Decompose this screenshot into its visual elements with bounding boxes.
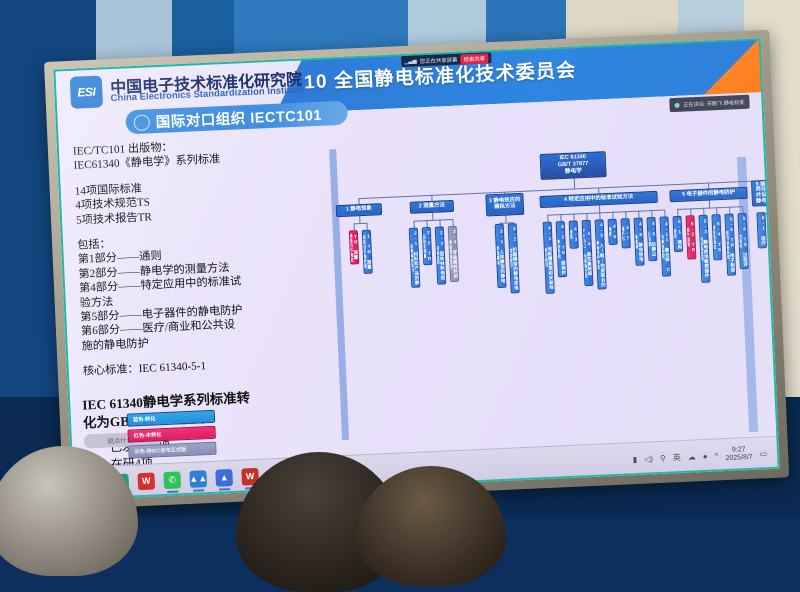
diagram-leaf-node: 1 TR 测量误差和不确定度 xyxy=(362,230,373,274)
esi-logo: ESI xyxy=(70,75,103,108)
ime-language-icon[interactable]: 英 xyxy=(673,452,681,463)
active-speaker-text: 正在讲话: 宋鹏飞 静电标委 xyxy=(683,98,745,108)
connector-line xyxy=(574,179,575,189)
diagram-leaf-node: 5-3 静电放电敏感器件的包装性能 xyxy=(698,215,710,283)
diagram-root-node: IEC 61340GB/T 37977静电学 xyxy=(540,151,607,180)
notification-icon[interactable]: ▭ xyxy=(759,449,767,458)
clock-date: 2025/8/7 xyxy=(725,454,753,464)
taskbar-system-tray: ▮◁)⚲英☁●^ 9:27 2025/8/7 ▭ xyxy=(632,445,767,468)
diagram-leaf-node: 4-8 静电放电屏蔽袋 xyxy=(634,218,645,266)
diagram-leaf-node: 4-7 离子化 xyxy=(621,218,631,248)
tv-screen: 10 全国静电标准化技术委员会 ESI 中国电子技术标准化研究院 China E… xyxy=(53,38,779,500)
battery-icon[interactable]: ▮ xyxy=(633,455,638,464)
diagram-leaf-node: 2-2 TR 起电性测量 xyxy=(422,227,433,265)
globe-icon xyxy=(133,114,150,131)
root-node-line: 静电学 xyxy=(565,169,582,176)
wechat-icon[interactable]: ✆ xyxy=(163,471,181,489)
diagram-leaf-node: 5-5 TR 电子制造用的包装系统 xyxy=(724,213,736,275)
diagram-category-node: 1 静电现象 xyxy=(336,203,382,217)
diagram-leaf-node: 3-1 人体模型的静电放电模拟 xyxy=(495,224,507,288)
connector-line xyxy=(677,206,742,210)
television-display: 10 全国静电标准化技术委员会 ESI 中国电子技术标准化研究院 China E… xyxy=(44,30,789,510)
diagram-leaf-node: 4-4 柔性集装袋 FIBC 的静电分类 xyxy=(582,220,594,286)
legend-item: 红色-未转化 xyxy=(127,426,215,443)
diagram-leaf-node: 3-2 机器模型的静电放电试验波形 xyxy=(508,223,520,293)
diagram-category-node: 2 测量方法 xyxy=(410,200,454,214)
diagram-leaf-node: 4-1 地板覆盖层和安装地板的电阻 xyxy=(543,222,555,294)
antivirus-icon[interactable]: ● xyxy=(703,451,708,460)
diagram-leaf-node: 6-1 医疗 xyxy=(756,212,767,248)
standards-tree-diagram: IEC 61340GB/T 37977静电学1 静电现象TR 测量误差和不确定度… xyxy=(287,126,744,454)
volume-icon[interactable]: ◁) xyxy=(644,454,653,463)
diagram-leaf-node: 2-3 固体材料电阻和电阻率 xyxy=(435,226,447,284)
diagram-leaf-node: 5-2 TR 用户指南 xyxy=(685,215,696,259)
diagram-leaf-node: 5-1 通用要求 xyxy=(672,216,683,252)
diagram-leaf-node: 4-6 腕带 xyxy=(608,219,618,245)
diagram-leaf-node: 5-4 TS 符合性验证 xyxy=(711,214,722,260)
taskbar-clock[interactable]: 9:27 2025/8/7 xyxy=(725,445,753,463)
diagram-legend: 蓝色-转化红色-未转化灰色-待IEC发布正式版 xyxy=(127,410,217,462)
diagram-leaf-node: 2-4 非金属材料的静电放电性能 xyxy=(448,226,459,282)
tencent-meeting-icon[interactable]: ▲ xyxy=(215,469,233,487)
slide-subtitle-pill: 国际对口组织 IECTC101 xyxy=(125,101,348,135)
diagram-category-node: 3 静电效应的模拟方法 xyxy=(485,193,524,217)
connector-line xyxy=(547,210,664,216)
diagram-leaf-node: 2-1 材料和产品的静电荷消散能力 xyxy=(409,228,421,288)
diagram-leaf-node: 4-11 集合袋 C 的静电性能 xyxy=(659,216,671,276)
diagram-leaf-node: 4-3 鞋类 xyxy=(569,220,579,248)
legend-item: 灰色-待IEC发布正式版 xyxy=(128,442,216,459)
diagram-leaf-node: 4-5 人/鞋/地层联合的静电防护特性 xyxy=(595,219,607,289)
microphone-icon xyxy=(674,102,679,107)
show-hidden-icons-chevron[interactable]: ^ xyxy=(714,451,718,460)
stop-share-button[interactable]: 结束共享 xyxy=(460,53,488,64)
diagram-leaf-node: TR 测量误差和不确定度 xyxy=(349,230,360,264)
legend-item: 蓝色-转化 xyxy=(127,410,215,427)
meeting-app-icon[interactable]: ▲▲ xyxy=(189,470,207,488)
signal-icon: ▁▃▅ xyxy=(404,58,417,65)
esi-logo-text: ESI xyxy=(77,85,95,100)
network-icon[interactable]: ⚲ xyxy=(660,453,666,462)
share-status-text: 您正在共享屏幕 xyxy=(420,55,458,65)
diagram-leaf-node: 4-9 防静尘工作服 xyxy=(647,217,658,261)
diagram-leaf-node: 4-2 TS 服装的静电性能 xyxy=(556,221,567,277)
connector-line xyxy=(353,223,366,225)
connector-line xyxy=(413,219,452,222)
cloud-sync-icon[interactable]: ☁ xyxy=(688,452,696,461)
wps-office-icon[interactable]: W xyxy=(137,472,155,490)
slide-subtitle-text: 国际对口组织 IECTC101 xyxy=(155,103,322,131)
